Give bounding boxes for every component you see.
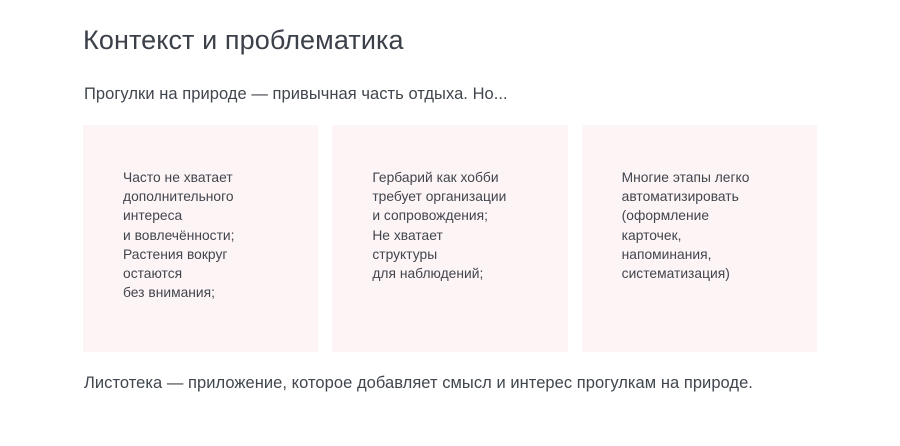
slide-root: Контекст и проблематика Прогулки на прир… — [0, 0, 900, 446]
slide-footer-text: Листотека — приложение, которое добавляе… — [84, 370, 844, 397]
problem-card-text: Многие этапы легко автоматизировать (офо… — [622, 168, 799, 283]
page-title: Контекст и проблематика — [83, 22, 404, 58]
problem-card: Гербарий как хобби требует организации и… — [332, 125, 567, 352]
problem-card-text: Гербарий как хобби требует организации и… — [372, 168, 549, 283]
problem-card: Часто не хватает дополнительного интерес… — [83, 125, 318, 352]
problem-cards-row: Часто не хватает дополнительного интерес… — [83, 125, 817, 352]
problem-card: Многие этапы легко автоматизировать (офо… — [582, 125, 817, 352]
slide-subtitle: Прогулки на природе — привычная часть от… — [84, 82, 508, 106]
problem-card-text: Часто не хватает дополнительного интерес… — [123, 168, 300, 302]
